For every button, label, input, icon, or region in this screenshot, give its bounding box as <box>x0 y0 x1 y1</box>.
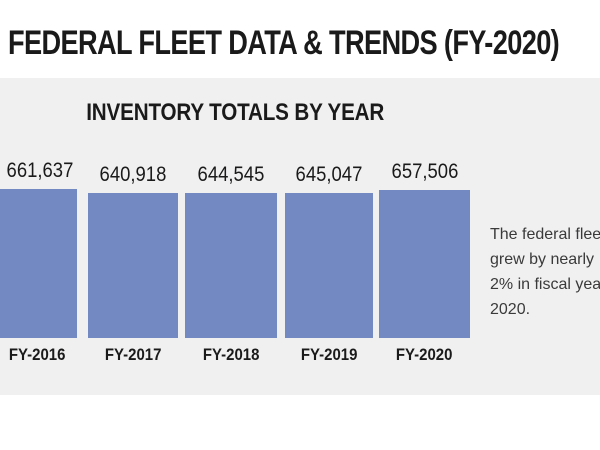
bar-group-fy-2016[interactable]: 661,637 FY-2016 <box>0 189 77 338</box>
bar-value-fy-2018: 644,545 <box>193 164 269 186</box>
bar-value-fy-2019: 645,047 <box>291 164 367 186</box>
bar-group-fy-2017[interactable]: 640,918 FY-2017 <box>88 193 178 338</box>
bar-rect-fy-2020[interactable] <box>379 190 470 338</box>
bar-group-fy-2019[interactable]: 645,047 FY-2019 <box>285 193 373 338</box>
bar-value-fy-2016: 661,637 <box>2 160 78 182</box>
bar-label-fy-2018: FY-2018 <box>199 345 263 364</box>
infographic-panel: INVENTORY TOTALS BY YEAR 661,637 FY-2016… <box>0 78 600 395</box>
header-band: FEDERAL FLEET DATA & TRENDS (FY-2020) <box>0 0 600 78</box>
bar-rect-fy-2016[interactable] <box>0 189 77 338</box>
page-title: FEDERAL FLEET DATA & TRENDS (FY-2020) <box>8 24 559 62</box>
bar-label-fy-2016: FY-2016 <box>5 345 69 364</box>
bar-rect-fy-2019[interactable] <box>285 193 373 338</box>
footer-white-area <box>0 395 600 450</box>
bar-chart: 661,637 FY-2016 640,918 FY-2017 644,545 <box>0 78 478 395</box>
bar-rect-fy-2017[interactable] <box>88 193 178 338</box>
bar-group-fy-2018[interactable]: 644,545 FY-2018 <box>185 193 277 338</box>
bar-value-fy-2020: 657,506 <box>387 161 463 183</box>
bar-rect-fy-2018[interactable] <box>185 193 277 338</box>
bar-label-fy-2017: FY-2017 <box>101 345 165 364</box>
bar-label-fy-2019: FY-2019 <box>297 345 361 364</box>
bar-label-fy-2020: FY-2020 <box>392 345 456 364</box>
bar-value-fy-2017: 640,918 <box>95 164 171 186</box>
chart-caption: The federal fleet grew by nearly 2% in f… <box>490 222 600 322</box>
bar-group-fy-2020[interactable]: 657,506 FY-2020 <box>379 190 470 338</box>
